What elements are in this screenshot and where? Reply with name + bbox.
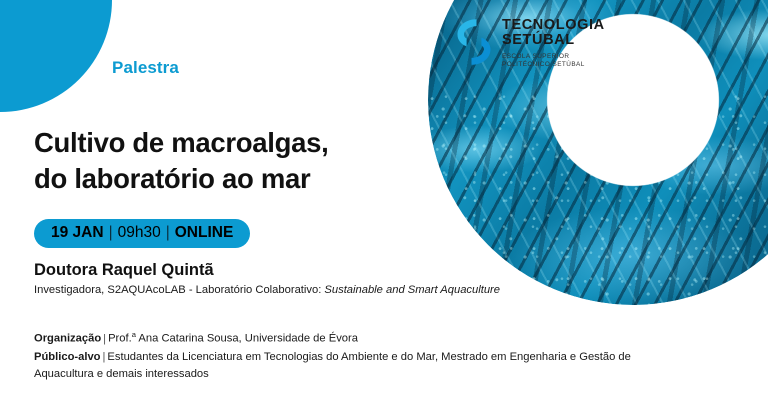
blue-quarter-circle-decoration xyxy=(0,0,112,112)
organizacao-value: Ana Catarina Sousa, Universidade de Évor… xyxy=(136,333,358,345)
s-mark-icon xyxy=(455,16,493,68)
badge-separator-2: | xyxy=(161,224,175,242)
event-title: Cultivo de macroalgas, do laboratório ao… xyxy=(34,125,328,195)
publico-alvo-value: Estudantes da Licenciatura em Tecnologia… xyxy=(34,351,631,380)
footer-info-block: Organização|Prof.a Ana Catarina Sousa, U… xyxy=(34,329,634,382)
publico-alvo-row: Público-alvo|Estudantes da Licenciatura … xyxy=(34,349,634,382)
speaker-affiliation-italic: Sustainable and Smart Aquaculture xyxy=(324,284,500,296)
speaker-block: Doutora Raquel Quintã Investigadora, S2A… xyxy=(34,260,500,297)
institution-logo: TECNOLOGIA SETÚBAL ESCOLA SUPERIOR POLIT… xyxy=(455,16,605,70)
publico-alvo-label: Público-alvo xyxy=(34,351,101,363)
event-type-kicker: Palestra xyxy=(112,58,179,78)
speaker-affiliation-text: Investigadora, S2AQUAcoLAB - Laboratório… xyxy=(34,284,324,296)
event-details-badge: 19 JAN | 09h30 | ONLINE xyxy=(34,219,250,248)
speaker-name: Doutora Raquel Quintã xyxy=(34,260,500,281)
speaker-affiliation: Investigadora, S2AQUAcoLAB - Laboratório… xyxy=(34,283,500,298)
event-poster: TECNOLOGIA SETÚBAL ESCOLA SUPERIOR POLIT… xyxy=(0,0,768,402)
event-mode: ONLINE xyxy=(175,224,234,242)
event-time: 09h30 xyxy=(118,224,161,242)
logo-title: TECNOLOGIA SETÚBAL xyxy=(502,18,605,49)
badge-separator-1: | xyxy=(104,224,118,242)
event-date: 19 JAN xyxy=(51,224,104,242)
logo-subtitle: ESCOLA SUPERIOR POLITÉCNICO SETÚBAL xyxy=(502,53,605,70)
organizacao-label: Organização xyxy=(34,333,101,345)
organizacao-value-prefix: Prof. xyxy=(108,333,132,345)
organizacao-row: Organização|Prof.a Ana Catarina Sousa, U… xyxy=(34,329,634,347)
logo-text-block: TECNOLOGIA SETÚBAL ESCOLA SUPERIOR POLIT… xyxy=(502,16,605,70)
